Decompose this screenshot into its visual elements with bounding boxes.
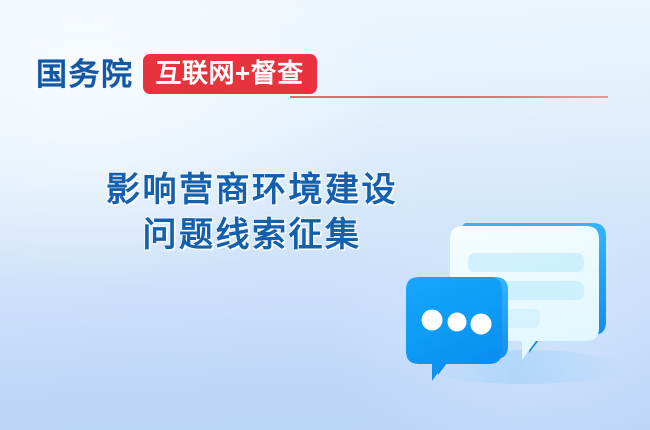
typing-dot-2 [448,313,467,332]
header-divider-line [290,96,608,98]
internet-supervision-badge: 互联网+督查 [143,54,317,94]
title-line-1: 影响营商环境建设 [92,168,412,213]
bubble-text-line-1 [468,253,584,272]
title-line-2: 问题线索征集 [92,213,412,258]
badge-label: 互联网+督查 [156,60,304,87]
page-title: 影响营商环境建设 问题线索征集 [92,168,412,258]
chat-bubbles-illustration [398,205,628,410]
poster-banner: 国务院 互联网+督查 影响营商环境建设 问题线索征集 [0,0,650,430]
typing-dot-3 [471,314,492,335]
gov-label: 国务院 [36,59,134,90]
typing-dot-1 [422,310,443,331]
header: 国务院 互联网+督查 [36,53,317,95]
